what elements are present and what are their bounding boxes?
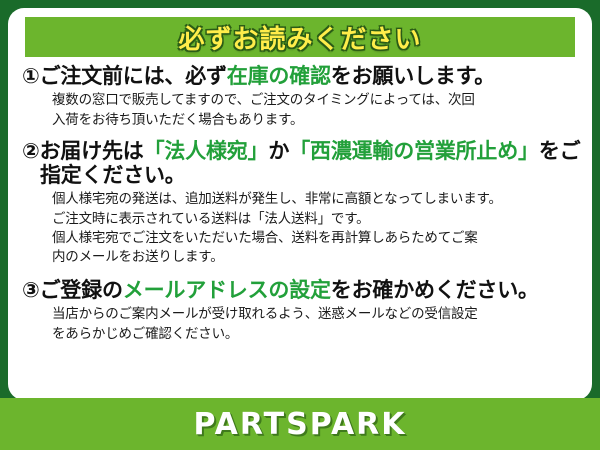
notice-heading-1-part-0: ご注文前には、必ず <box>40 64 227 88</box>
notice-body-2-line-3: 内のメールをお送りします。 <box>52 248 582 267</box>
notice-heading-3: ③ご登録のメールアドレスの設定をお確かめください。 <box>22 278 582 302</box>
notice-body-1-line-0: 複数の窓口で販売してますので、ご注文のタイミングによっては、次回 <box>52 91 582 110</box>
notice-body-2-line-0: 個人様宅宛の発送は、追加送料が発生し、非常に高額となってしまいます。 <box>52 190 582 209</box>
notice-heading-2-part-0: お届け先は <box>40 139 144 163</box>
page-title: 必ずお読みください <box>178 19 421 56</box>
notice-item-1: ①ご注文前には、必ず在庫の確認をお願いします。 複数の窓口で販売してますので、ご… <box>8 64 592 130</box>
notice-number-1: ① <box>22 64 40 88</box>
notice-heading-2-part-2: か <box>268 139 289 163</box>
notice-banner: 必ずお読みください ①ご注文前には、必ず在庫の確認をお願いします。 複数の窓口で… <box>0 0 600 450</box>
notice-number-3: ③ <box>22 278 40 302</box>
notice-body-2-line-2: 個人様宅宛でご注文をいただいた場合、送料を再計算しあらためてご案 <box>52 229 582 248</box>
notice-heading-2-part-3: 「西濃運輸の営業所止め」 <box>289 139 539 163</box>
notice-body-3-line-1: をあらかじめご確認ください。 <box>52 325 582 344</box>
notice-list: ①ご注文前には、必ず在庫の確認をお願いします。 複数の窓口で販売してますので、ご… <box>8 64 592 344</box>
brand-logo: PARTSPARK <box>193 407 406 442</box>
notice-body-1-line-1: 入荷をお待ち頂いただく場合もあります。 <box>52 111 582 130</box>
notice-heading-1: ①ご注文前には、必ず在庫の確認をお願いします。 <box>22 64 582 88</box>
notice-heading-3-part-0: ご登録の <box>40 278 123 302</box>
notice-item-2: ②お届け先は「法人様宛」か「西濃運輸の営業所止め」をご指定ください。 個人様宅宛… <box>8 139 592 267</box>
notice-heading-3-part-1: メールアドレスの設定 <box>123 278 331 302</box>
notice-body-3: 当店からのご案内メールが受け取れるよう、迷惑メールなどの受信設定 をあらかじめご… <box>52 305 582 343</box>
notice-body-1: 複数の窓口で販売してますので、ご注文のタイミングによっては、次回 入荷をお待ち頂… <box>52 91 582 129</box>
notice-number-2: ② <box>22 139 40 163</box>
notice-heading-2: ②お届け先は「法人様宛」か「西濃運輸の営業所止め」をご指定ください。 <box>22 139 582 188</box>
footer-band: PARTSPARK <box>0 398 600 450</box>
notice-heading-1-part-2: をお願いします。 <box>331 64 495 88</box>
notice-body-3-line-0: 当店からのご案内メールが受け取れるよう、迷惑メールなどの受信設定 <box>52 305 582 324</box>
notice-heading-2-part-1: 「法人様宛」 <box>144 139 269 163</box>
notice-heading-3-part-2: をお確かめください。 <box>331 278 539 302</box>
notice-item-3: ③ご登録のメールアドレスの設定をお確かめください。 当店からのご案内メールが受け… <box>8 278 592 344</box>
title-band: 必ずお読みください <box>25 17 575 57</box>
notice-body-2-line-1: ご注文時に表示されている送料は「法人送料」です。 <box>52 210 582 229</box>
notice-heading-1-part-1: 在庫の確認 <box>227 64 331 88</box>
notice-body-2: 個人様宅宛の発送は、追加送料が発生し、非常に高額となってしまいます。 ご注文時に… <box>52 190 582 267</box>
notice-panel: 必ずお読みください ①ご注文前には、必ず在庫の確認をお願いします。 複数の窓口で… <box>8 8 592 400</box>
